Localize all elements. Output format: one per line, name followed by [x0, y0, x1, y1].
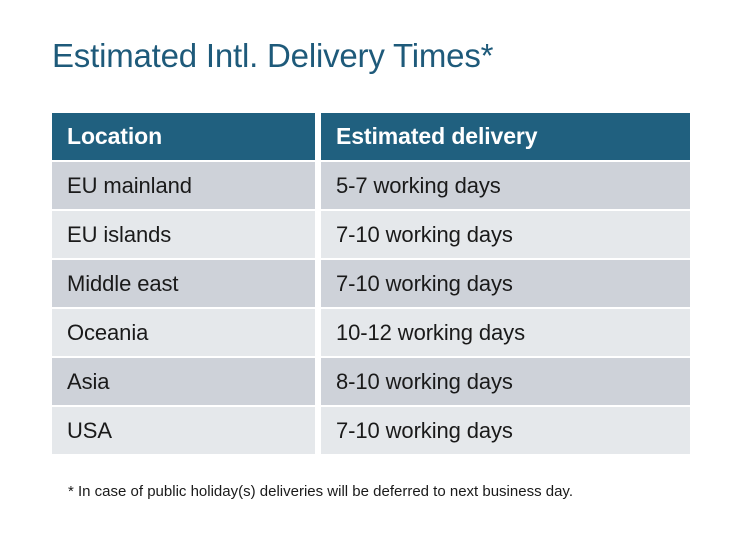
delivery-times-page: Estimated Intl. Delivery Times* Location… — [0, 0, 745, 536]
cell-location: Middle east — [52, 260, 315, 307]
page-title: Estimated Intl. Delivery Times* — [52, 36, 493, 76]
cell-estimated-delivery: 10-12 working days — [321, 309, 690, 356]
table-row: EU islands 7-10 working days — [52, 211, 690, 258]
cell-location: Asia — [52, 358, 315, 405]
cell-estimated-delivery: 7-10 working days — [321, 407, 690, 454]
cell-estimated-delivery: 7-10 working days — [321, 211, 690, 258]
table-row: EU mainland 5-7 working days — [52, 162, 690, 209]
table-header-row: Location Estimated delivery — [52, 113, 690, 160]
cell-location: EU mainland — [52, 162, 315, 209]
cell-location: USA — [52, 407, 315, 454]
table-row: Middle east 7-10 working days — [52, 260, 690, 307]
table-row: USA 7-10 working days — [52, 407, 690, 454]
delivery-times-table: Location Estimated delivery EU mainland … — [52, 113, 690, 456]
column-header-estimated-delivery: Estimated delivery — [321, 113, 690, 160]
table-row: Oceania 10-12 working days — [52, 309, 690, 356]
column-header-location: Location — [52, 113, 315, 160]
cell-estimated-delivery: 8-10 working days — [321, 358, 690, 405]
cell-estimated-delivery: 7-10 working days — [321, 260, 690, 307]
footnote-text: * In case of public holiday(s) deliverie… — [68, 482, 573, 502]
cell-location: Oceania — [52, 309, 315, 356]
cell-location: EU islands — [52, 211, 315, 258]
cell-estimated-delivery: 5-7 working days — [321, 162, 690, 209]
table-row: Asia 8-10 working days — [52, 358, 690, 405]
